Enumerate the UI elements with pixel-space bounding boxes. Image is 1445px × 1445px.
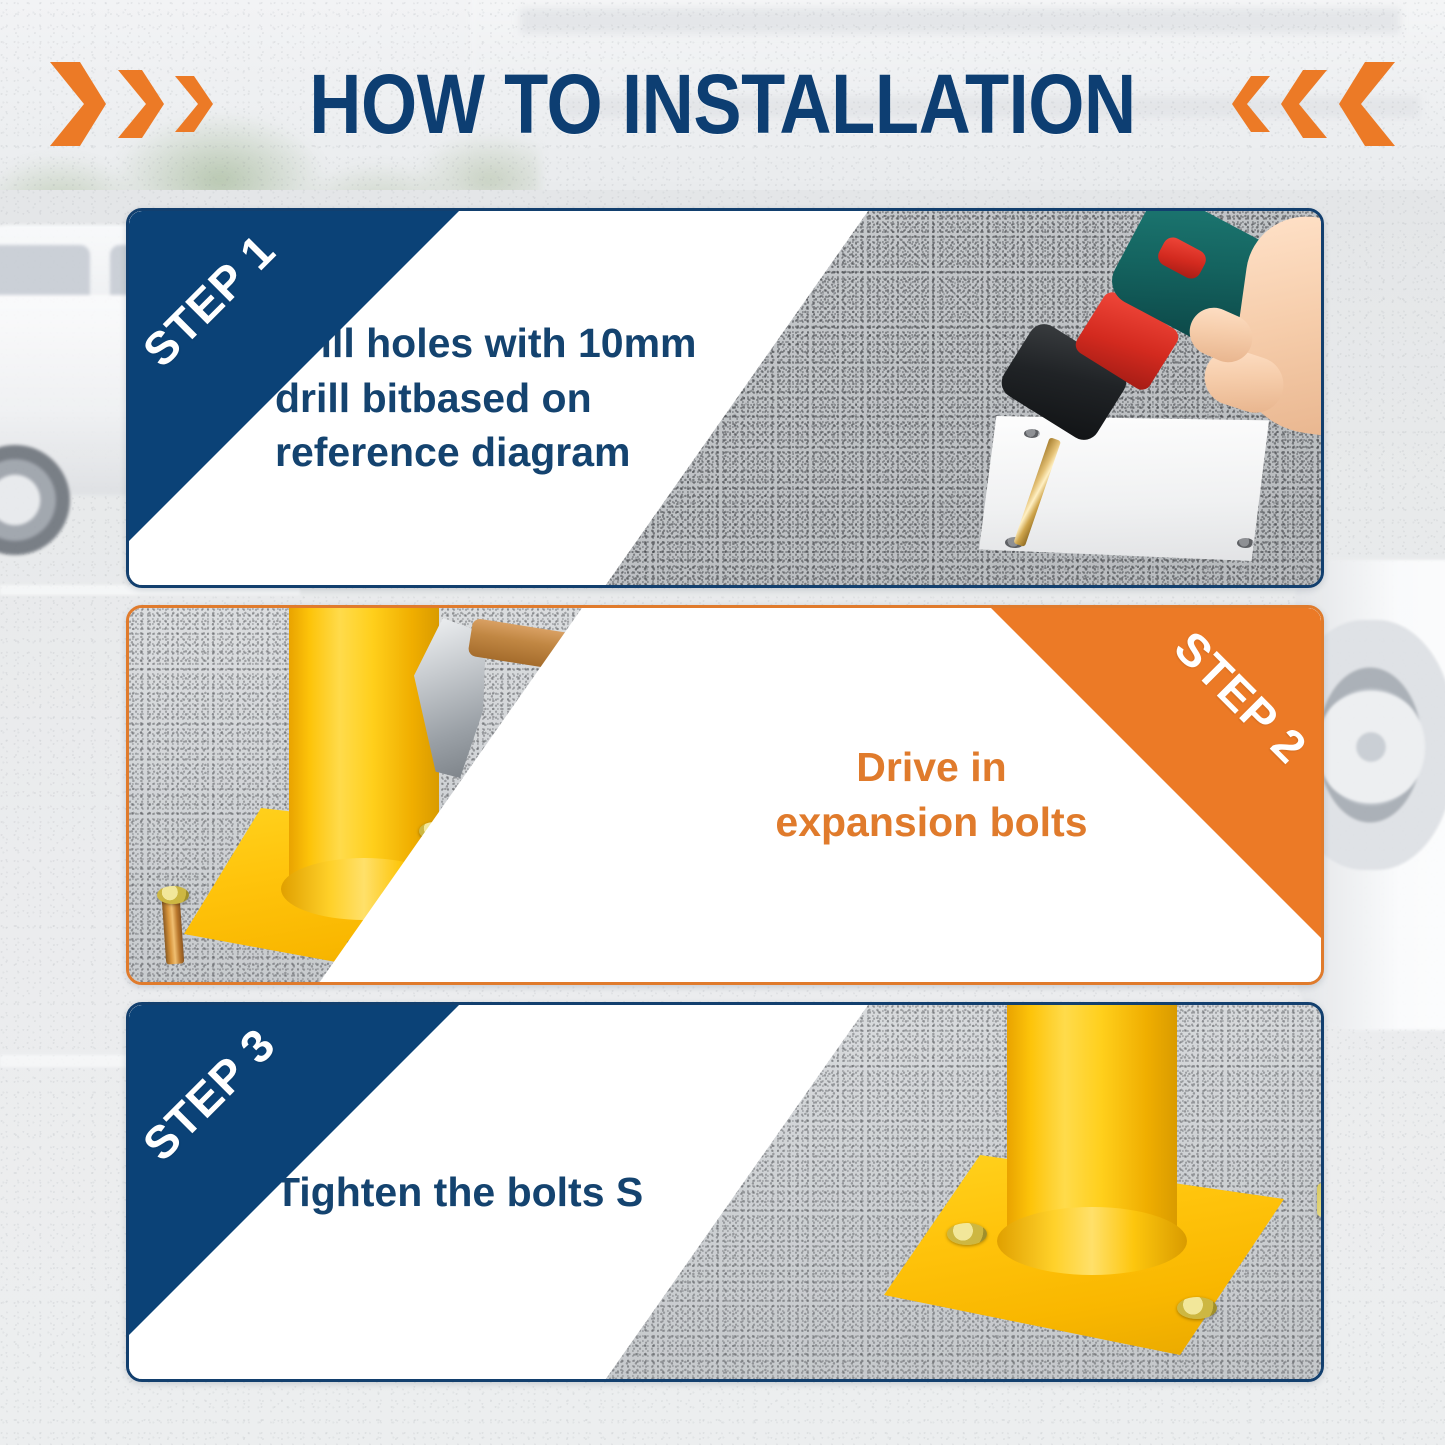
chevron-left-icon [1277, 66, 1331, 142]
left-chevrons [46, 58, 216, 150]
step-1-description: Drill holes with 10mm drill bitbased on … [275, 316, 697, 480]
step-card-1: Drill holes with 10mm drill bitbased on … [126, 208, 1324, 588]
step-2-text-panel: Drive in expansion bolts [582, 608, 1321, 982]
step-1-line-2: drill bitbased on [275, 371, 697, 426]
car-wheel-hub [1317, 688, 1425, 806]
step-1-line-1: Drill holes with 10mm [275, 316, 697, 371]
bolt-washer [157, 886, 189, 904]
right-chevrons [1229, 58, 1399, 150]
page-header: HOW TO INSTALLATION [0, 48, 1445, 160]
tightened-bolt [1177, 1297, 1217, 1319]
step-2-line-1: Drive in [775, 740, 1087, 795]
step-3-line-1: Tighten the bolts S [275, 1165, 643, 1220]
step-3-description: Tighten the bolts S [275, 1165, 643, 1220]
plate-hole [1024, 429, 1040, 438]
chevron-left-icon [1229, 73, 1273, 135]
step-1-line-3: reference diagram [275, 425, 697, 480]
plate-hole [1237, 538, 1254, 548]
page-title: HOW TO INSTALLATION [309, 62, 1136, 146]
step-3-text-panel: Tighten the bolts S [129, 1005, 868, 1379]
chevron-right-icon [172, 73, 216, 135]
chevron-left-icon [1335, 58, 1399, 150]
step-card-2: Drive in expansion bolts STEP 2 [126, 605, 1324, 985]
tightened-bolt [947, 1223, 987, 1245]
chevron-right-icon [46, 58, 110, 150]
bollard-post-foot [997, 1207, 1187, 1275]
step-1-text-panel: Drill holes with 10mm drill bitbased on … [129, 211, 868, 585]
step-2-line-2: expansion bolts [775, 795, 1087, 850]
bolt-socket [1317, 1183, 1321, 1217]
step-2-description: Drive in expansion bolts [775, 740, 1087, 849]
chevron-right-icon [114, 66, 168, 142]
step-card-3: Tighten the bolts S STEP 3 [126, 1002, 1324, 1382]
